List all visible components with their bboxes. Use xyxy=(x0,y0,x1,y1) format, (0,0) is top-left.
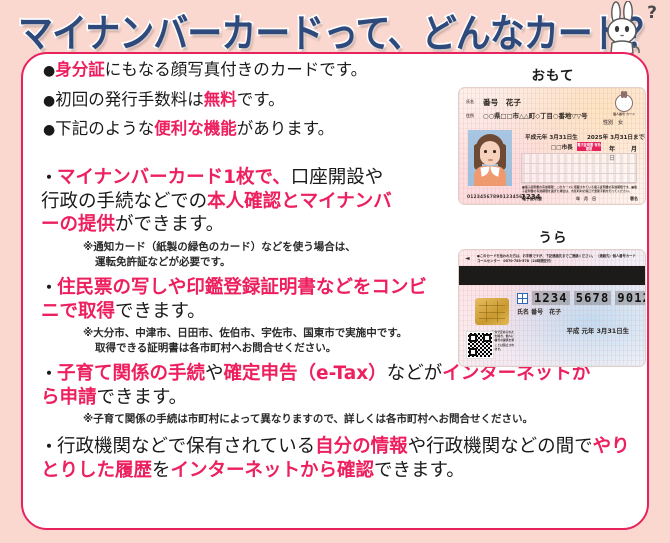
qr-eye xyxy=(469,348,477,356)
chip-line xyxy=(479,312,505,313)
bullet-0-seg-1: にもなる顔写真付きのカードです。 xyxy=(105,60,367,79)
chip-line xyxy=(497,301,498,322)
page-title: マイナンバーカードって、どんなカード？ xyxy=(18,2,660,59)
card-front-name-value: 番号 花子 xyxy=(483,97,521,108)
ic-chip-icon xyxy=(475,298,509,325)
feature-marker-icon: ・ xyxy=(41,364,57,383)
card-front-name-label: 氏名 xyxy=(466,99,474,105)
arrow-icon: ◄ xyxy=(465,255,470,262)
feature-4-seg-4: を xyxy=(152,460,171,481)
emblem-ear-right xyxy=(624,91,627,98)
portrait-face xyxy=(480,141,500,165)
summary-bullet-list: ●身分証にもなる顔写真付きのカードです。 ●初回の発行手数料は無料です。 ●下記… xyxy=(43,62,443,151)
feature-item-information-history: ・行政機関などで保有されている自分の情報や行政機関などの間でやりとりした履歴をイ… xyxy=(41,435,641,482)
card-front-blank-area xyxy=(521,153,637,183)
number-group-3: 9012 xyxy=(615,291,646,305)
chip-line xyxy=(479,318,505,319)
bullet-2-seg-1: 便利な機能 xyxy=(154,119,237,138)
card-back-name-label: 氏名 xyxy=(517,309,529,316)
card-front-sig-mid: 年 月 日 xyxy=(576,196,596,202)
portrait-eye-left xyxy=(484,150,487,153)
bullet-0-seg-0: 身分証 xyxy=(55,60,105,79)
number-badge-icon xyxy=(517,293,528,304)
number-group-2: 5678 xyxy=(574,291,612,305)
feature-marker-icon: ・ xyxy=(41,437,57,456)
chip-line xyxy=(486,301,487,322)
list-item: ●下記のような便利な機能があります。 xyxy=(43,121,443,138)
card-front-sig-right: 署名 xyxy=(630,196,638,202)
bullet-2-seg-2: があります。 xyxy=(237,119,334,138)
rabbit-mascot-icon: ? xyxy=(597,1,659,55)
card-back-label: うら xyxy=(458,226,648,246)
chip-line xyxy=(479,305,505,306)
card-back-number-row: 1234 5678 9012 xyxy=(517,291,646,305)
card-front-address-value: ○○県□□市△△町◇丁目○番地▽▽号 xyxy=(483,111,588,120)
feature-1-text: ・マイナンバーカード1枚で、口座開設や行政の手続などでの本人確認とマイナンバーの… xyxy=(41,166,401,237)
feature-3-text: ・子育て関係の手続や確定申告（e-Tax）などがインターネットから申請できます。 xyxy=(41,362,601,409)
feature-marker-icon: ・ xyxy=(41,168,57,187)
card-front-rule xyxy=(522,174,636,184)
feature-1-seg-3: ができます。 xyxy=(115,214,224,235)
card-front-pin: 1234 xyxy=(521,193,540,201)
question-mark-icon: ? xyxy=(647,3,657,23)
list-item: ●身分証にもなる顔写真付きのカードです。 xyxy=(43,62,443,79)
feature-3-seg-0: 子育て関係の手続 xyxy=(57,363,205,384)
feature-3-seg-2: 確定申告（e-Tax） xyxy=(224,363,387,384)
bullet-1-seg-2: です。 xyxy=(237,90,285,109)
feature-4-seg-6: できます。 xyxy=(374,460,465,481)
feature-2-seg-0: 住民票の写しや印鑑登録証明書などをコンビニで取得 xyxy=(41,277,427,322)
card-front-emblem: 個人番号 カード xyxy=(611,94,637,124)
qr-code-icon xyxy=(467,332,493,358)
card-front-mayor: □□市長 xyxy=(551,143,573,151)
card-front-cert-stamp: 電子証明書 有効期限 xyxy=(577,142,601,151)
card-front-expiry: 2025年 3月31日まで有効 xyxy=(587,133,646,141)
list-item: ●初回の発行手数料は無料です。 xyxy=(43,92,443,109)
bullet-1-seg-0: 初回の発行手数料は xyxy=(55,90,204,109)
mynumber-card-front: 氏名 番号 花子 住所 ○○県□□市△△町◇丁目○番地▽▽号 性別 女 平成元年… xyxy=(458,87,646,205)
card-front-serial: 012345678901234567 xyxy=(467,195,526,200)
poster-header: マイナンバーカードって、どんなカード？ ? xyxy=(0,0,670,54)
card-front-emblem-text: 個人番号 カード xyxy=(611,113,637,117)
feature-3-seg-3: などが xyxy=(387,363,443,384)
feature-4-seg-0: 行政機関などで保有されている xyxy=(57,436,315,457)
card-front-photo xyxy=(468,130,512,186)
card-back-name: 氏名 番号 花子 xyxy=(517,307,561,316)
feature-3-note-line-0: ※子育て関係の手続は市町村によって異なりますので、詳しくは各市町村へお問合せくだ… xyxy=(83,412,641,427)
bullet-dot-icon: ● xyxy=(43,63,55,79)
card-front-address-label: 住所 xyxy=(466,113,474,119)
feature-4-seg-2: や行政機関などの間で xyxy=(408,436,593,457)
feature-3-note: ※子育て関係の手続は市町村によって異なりますので、詳しくは各市町村へお問合せくだ… xyxy=(41,412,641,427)
emblem-rabbit-icon xyxy=(615,94,633,112)
card-back-name-value: 番号 花子 xyxy=(531,309,561,316)
feature-4-seg-5: インターネットから確認 xyxy=(171,460,375,481)
content-panel: ●身分証にもなる顔写真付きのカードです。 ●初回の発行手数料は無料です。 ●下記… xyxy=(21,52,649,530)
card-front-illustration: おもて 氏名 番号 花子 住所 ○○県□□市△△町◇丁目○番地▽▽号 性別 女 xyxy=(458,64,648,205)
qr-eye xyxy=(483,334,491,342)
magnetic-stripe xyxy=(459,266,646,285)
feature-4-seg-1: 自分の情報 xyxy=(315,436,408,457)
card-front-rule xyxy=(522,164,636,174)
feature-2-seg-1: できます。 xyxy=(115,301,206,322)
card-front-label: おもて xyxy=(458,64,648,84)
portrait-mouth xyxy=(488,159,493,161)
qr-eye xyxy=(469,334,477,342)
mynumber-card-back: ◄ ●このカードを拾われた方は、お手数ですが、下記連絡先までご連絡ください。 （… xyxy=(458,249,646,367)
feature-3-seg-1: や xyxy=(205,363,224,384)
feature-3-seg-5: できます。 xyxy=(97,387,188,408)
bullet-dot-icon: ● xyxy=(43,122,55,138)
card-back-top-note: ●このカードを拾われた方は、お手数ですが、下記連絡先までご連絡ください。 （連絡… xyxy=(477,254,639,264)
feature-marker-icon: ・ xyxy=(41,278,57,297)
number-group-1: 1234 xyxy=(532,291,570,305)
feature-2-text: ・住民票の写しや印鑑登録証明書などをコンビニで取得できます。 xyxy=(41,276,436,323)
bullet-1-seg-1: 無料 xyxy=(204,90,237,109)
card-front-birth-date: 平成元年 3月31日生 xyxy=(525,133,578,141)
feature-4-text: ・行政機関などで保有されている自分の情報や行政機関などの間でやりとりした履歴をイ… xyxy=(41,435,637,482)
card-back-illustration: うら ◄ ●このカードを拾われた方は、お手数ですが、下記連絡先までご連絡ください… xyxy=(458,226,648,367)
feature-item-online-application: ・子育て関係の手続や確定申告（e-Tax）などがインターネットから申請できます。… xyxy=(41,362,641,427)
bullet-dot-icon: ● xyxy=(43,93,55,109)
portrait-eye-right xyxy=(493,150,496,153)
bullet-2-seg-0: 下記のような xyxy=(55,119,154,138)
card-front-rule xyxy=(522,154,636,164)
card-back-date: 平成 元年 3月31日生 xyxy=(566,326,629,335)
feature-1-seg-0: マイナンバーカード1枚で、 xyxy=(57,167,291,188)
